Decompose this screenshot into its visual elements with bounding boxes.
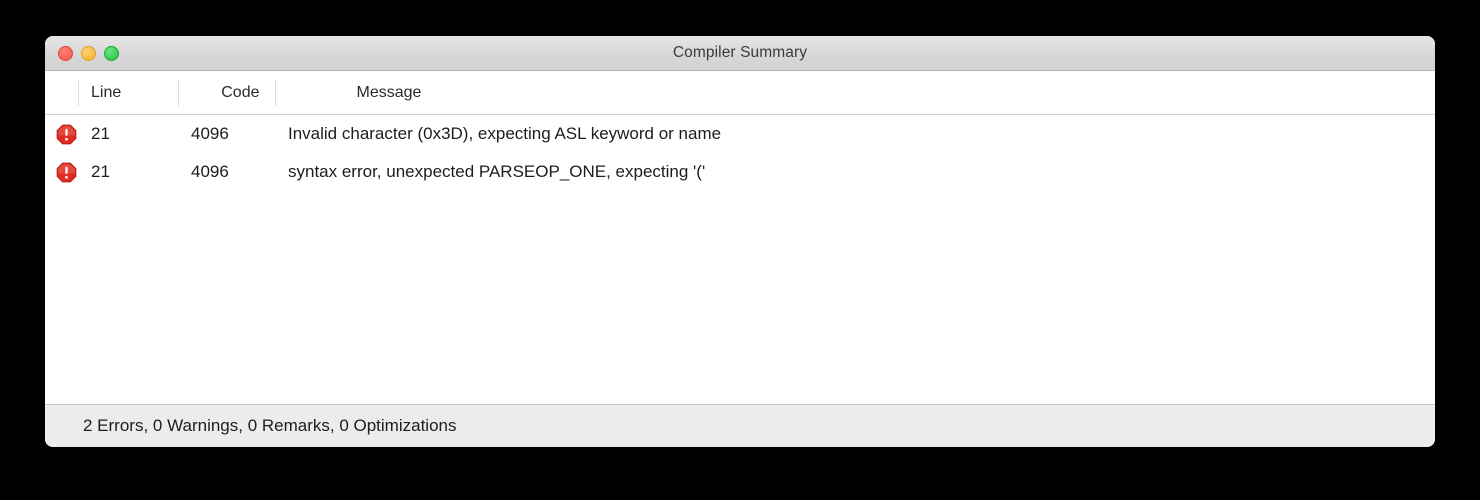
column-header-code[interactable]: Code <box>221 71 259 114</box>
column-header-message[interactable]: Message <box>357 71 422 114</box>
row-line-value: 21 <box>91 153 110 191</box>
row-code-value: 4096 <box>191 115 229 153</box>
compile-summary-text: 2 Errors, 0 Warnings, 0 Remarks, 0 Optim… <box>83 416 457 436</box>
row-message-value: Invalid character (0x3D), expecting ASL … <box>288 115 721 153</box>
column-divider-icon <box>78 79 79 106</box>
message-list[interactable]: 21 4096 Invalid character (0x3D), expect… <box>45 115 1435 404</box>
table-row[interactable]: 21 4096 syntax error, unexpected PARSEOP… <box>45 153 1435 191</box>
column-divider-icon <box>275 79 276 106</box>
error-octagon-icon <box>53 115 79 153</box>
window-title: Compiler Summary <box>45 44 1435 62</box>
table-row[interactable]: 21 4096 Invalid character (0x3D), expect… <box>45 115 1435 153</box>
compiler-summary-window: Compiler Summary Line Code Message 21 40… <box>45 36 1435 447</box>
row-message-value: syntax error, unexpected PARSEOP_ONE, ex… <box>288 153 705 191</box>
minimize-window-button[interactable] <box>81 46 96 61</box>
maximize-window-button[interactable] <box>104 46 119 61</box>
close-window-button[interactable] <box>58 46 73 61</box>
table-column-header: Line Code Message <box>45 71 1435 115</box>
error-octagon-icon <box>53 153 79 191</box>
window-titlebar[interactable]: Compiler Summary <box>45 36 1435 71</box>
column-header-line[interactable]: Line <box>91 71 121 114</box>
row-line-value: 21 <box>91 115 110 153</box>
status-bar: 2 Errors, 0 Warnings, 0 Remarks, 0 Optim… <box>45 404 1435 447</box>
column-divider-icon <box>178 79 179 106</box>
row-code-value: 4096 <box>191 153 229 191</box>
traffic-lights <box>58 36 119 70</box>
